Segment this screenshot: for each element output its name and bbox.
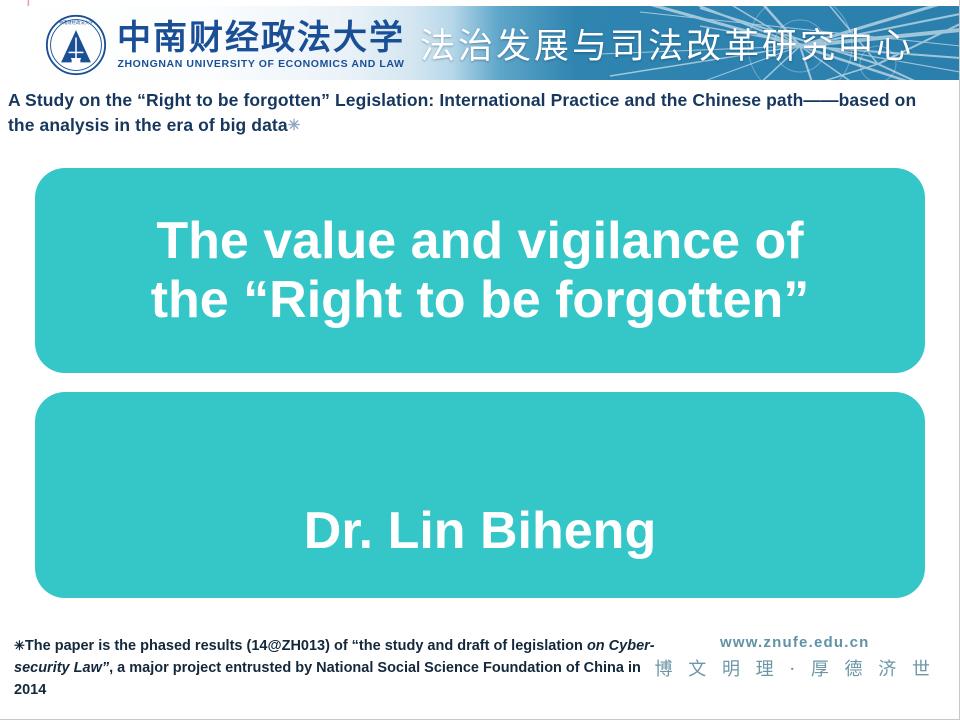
author-name: Dr. Lin Biheng xyxy=(304,503,656,598)
university-name-cn: 中南财经政法大学 xyxy=(117,21,405,55)
watermark-url: www.znufe.edu.cn xyxy=(655,634,936,651)
research-center-name: 法治发展与司法改革研究中心 xyxy=(420,18,914,69)
footnote: ✳The paper is the phased results (14@ZH0… xyxy=(14,636,664,701)
university-name-block: 中南财经政法大学 ZHONGNAN UNIVERSITY OF ECONOMIC… xyxy=(117,21,405,70)
university-seal-icon: 中南财经政法大学 xyxy=(45,14,107,76)
watermark-motto: 博 文 明 理 · 厚 德 济 世 xyxy=(655,655,936,681)
paper-title: A Study on the “Right to be forgotten” L… xyxy=(8,88,938,138)
presentation-slide: J xyxy=(0,0,960,720)
paper-title-asterisk: ✳ xyxy=(288,117,301,134)
header-banner: 中南财经政法大学 中南财经政法大学 ZHONGNAN UNIVERSITY OF… xyxy=(0,6,960,80)
headline-box: The value and vigilance of the “Right to… xyxy=(35,168,925,373)
headline-text: The value and vigilance of the “Right to… xyxy=(123,212,838,328)
author-box: Dr. Lin Biheng xyxy=(35,392,925,598)
footnote-part-1: The paper is the phased results (14@ZH01… xyxy=(25,638,587,654)
university-logo-group: 中南财经政法大学 中南财经政法大学 ZHONGNAN UNIVERSITY OF… xyxy=(45,14,405,76)
headline-line-2: the “Right to be forgotten” xyxy=(151,271,810,329)
university-name-en: ZHONGNAN UNIVERSITY OF ECONOMICS AND LAW xyxy=(117,59,404,70)
footnote-asterisk: ✳ xyxy=(14,638,25,653)
headline-line-1: The value and vigilance of xyxy=(151,212,810,270)
watermark: www.znufe.edu.cn 博 文 明 理 · 厚 德 济 世 xyxy=(655,634,936,681)
paper-title-line-1: A Study on the “Right to be forgotten” L… xyxy=(8,90,656,110)
footnote-part-2: , a major project entrusted by National … xyxy=(14,660,641,698)
